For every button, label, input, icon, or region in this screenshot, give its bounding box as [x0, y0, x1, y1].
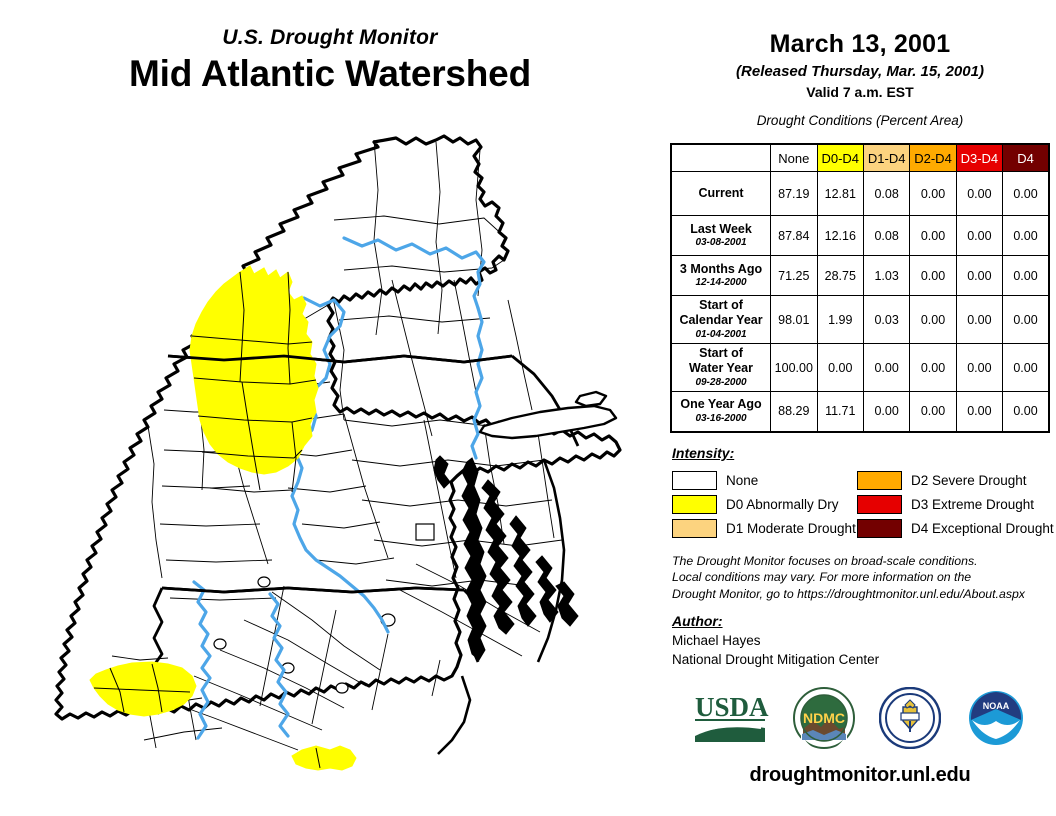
cell-value: 28.75: [817, 256, 863, 296]
usdc-seal: [879, 687, 941, 754]
cell-value: 0.00: [1003, 392, 1049, 432]
col-header-d0: D0-D4: [817, 144, 863, 172]
cell-value: 12.81: [817, 172, 863, 216]
legend-label: D1 Moderate Drought: [726, 521, 856, 536]
table-row: Current 87.19 12.81 0.08 0.00 0.00 0.00: [671, 172, 1049, 216]
release-date: (Released Thursday, Mar. 15, 2001): [664, 63, 1056, 80]
svg-text:NDMC: NDMC: [803, 710, 845, 726]
logo-row: USDA NDMC: [664, 683, 1056, 758]
swatch-none: [672, 471, 717, 490]
row-label-start-calendar-year: Start ofCalendar Year 01-04-2001: [671, 296, 771, 344]
swatch-d4: [857, 519, 902, 538]
row-label-last-week: Last Week 03-08-2001: [671, 216, 771, 256]
ndmc-logo: NDMC: [793, 687, 855, 754]
noaa-logo: NOAA: [965, 687, 1027, 754]
cell-value: 0.00: [910, 216, 956, 256]
cell-value: 0.00: [1003, 216, 1049, 256]
cell-value: 0.00: [910, 344, 956, 392]
valid-time: Valid 7 a.m. EST: [664, 84, 1056, 100]
cell-value: 0.00: [956, 296, 1002, 344]
cell-value: 0.00: [1003, 344, 1049, 392]
cell-value: 0.00: [910, 296, 956, 344]
col-header-none: None: [771, 144, 818, 172]
intensity-legend: Intensity: None D2 Severe Drought D0 Abn…: [672, 445, 1048, 540]
intensity-title: Intensity:: [672, 445, 1048, 461]
cell-value: 1.03: [863, 256, 909, 296]
cell-value: 0.00: [910, 172, 956, 216]
usda-logo: USDA: [693, 690, 769, 751]
right-panel: March 13, 2001 (Released Thursday, Mar. …: [664, 0, 1056, 816]
cell-value: 0.00: [956, 392, 1002, 432]
page-title: U.S. Drought Monitor Mid Atlantic Waters…: [0, 26, 660, 95]
row-label-3-months-ago: 3 Months Ago 12-14-2000: [671, 256, 771, 296]
legend-label: None: [726, 473, 758, 488]
cell-value: 11.71: [817, 392, 863, 432]
cell-value: 12.16: [817, 216, 863, 256]
legend-label: D2 Severe Drought: [911, 473, 1027, 488]
author-name: Michael Hayes: [672, 633, 1050, 648]
long-island: [480, 392, 616, 438]
cell-value: 0.00: [863, 344, 909, 392]
disclaimer-line-2: Local conditions may vary. For more info…: [672, 569, 1050, 585]
cell-value: 0.00: [817, 344, 863, 392]
legend-item-d0: D0 Abnormally Dry: [672, 492, 857, 516]
drought-conditions-table: None D0-D4 D1-D4 D2-D4 D3-D4 D4 Current …: [670, 143, 1050, 433]
table-row: Start ofCalendar Year 01-04-2001 98.01 1…: [671, 296, 1049, 344]
table-row: Start ofWater Year 09-28-2000 100.00 0.0…: [671, 344, 1049, 392]
date-block: March 13, 2001 (Released Thursday, Mar. …: [664, 0, 1056, 100]
legend-item-d3: D3 Extreme Drought: [857, 492, 1048, 516]
table-caption: Drought Conditions (Percent Area): [664, 113, 1056, 128]
cell-value: 0.03: [863, 296, 909, 344]
legend-label: D3 Extreme Drought: [911, 497, 1034, 512]
cell-value: 1.99: [817, 296, 863, 344]
legend-grid: None D2 Severe Drought D0 Abnormally Dry…: [672, 468, 1048, 540]
table-header-row: None D0-D4 D1-D4 D2-D4 D3-D4 D4: [671, 144, 1049, 172]
swatch-d2: [857, 471, 902, 490]
site-url[interactable]: droughtmonitor.unl.edu: [664, 764, 1056, 787]
col-header-d3: D3-D4: [956, 144, 1002, 172]
cell-value: 0.00: [956, 172, 1002, 216]
disclaimer-line-3: Drought Monitor, go to https://droughtmo…: [672, 586, 1050, 602]
legend-item-d2: D2 Severe Drought: [857, 468, 1048, 492]
map-date: March 13, 2001: [664, 30, 1056, 59]
legend-item-d1: D1 Moderate Drought: [672, 516, 857, 540]
table-row: One Year Ago 03-16-2000 88.29 11.71 0.00…: [671, 392, 1049, 432]
author-org: National Drought Mitigation Center: [672, 652, 1050, 667]
svg-text:USDA: USDA: [695, 692, 769, 722]
cell-value: 0.00: [910, 256, 956, 296]
title-subtitle: U.S. Drought Monitor: [0, 26, 660, 49]
title-main: Mid Atlantic Watershed: [0, 53, 660, 94]
cell-value: 0.00: [956, 216, 1002, 256]
table-row: 3 Months Ago 12-14-2000 71.25 28.75 1.03…: [671, 256, 1049, 296]
swatch-d0: [672, 495, 717, 514]
row-label-one-year-ago: One Year Ago 03-16-2000: [671, 392, 771, 432]
cell-value: 88.29: [771, 392, 818, 432]
cell-value: 0.08: [863, 172, 909, 216]
cell-value: 0.08: [863, 216, 909, 256]
col-header-d4: D4: [1003, 144, 1049, 172]
swatch-d1: [672, 519, 717, 538]
cell-value: 0.00: [910, 392, 956, 432]
legend-item-d4: D4 Exceptional Drought: [857, 516, 1048, 540]
author-title: Author:: [672, 613, 1050, 629]
drought-monitor-page: U.S. Drought Monitor Mid Atlantic Waters…: [0, 0, 1056, 816]
author-block: Author: Michael Hayes National Drought M…: [672, 613, 1050, 667]
cell-value: 0.00: [863, 392, 909, 432]
d0-area-se-virginia: [292, 746, 356, 770]
cell-value: 0.00: [956, 256, 1002, 296]
row-label-current: Current: [671, 172, 771, 216]
cell-value: 0.00: [1003, 172, 1049, 216]
cell-value: 71.25: [771, 256, 818, 296]
disclaimer-text: The Drought Monitor focuses on broad-sca…: [672, 553, 1050, 602]
cell-value: 100.00: [771, 344, 818, 392]
cell-value: 87.19: [771, 172, 818, 216]
swatch-d3: [857, 495, 902, 514]
d0-area-western-pa: [190, 266, 318, 474]
cell-value: 0.00: [1003, 256, 1049, 296]
legend-label: D0 Abnormally Dry: [726, 497, 839, 512]
svg-text:NOAA: NOAA: [983, 701, 1010, 711]
row-label-start-water-year: Start ofWater Year 09-28-2000: [671, 344, 771, 392]
cell-value: 98.01: [771, 296, 818, 344]
drought-map[interactable]: [44, 120, 664, 810]
disclaimer-line-1: The Drought Monitor focuses on broad-sca…: [672, 553, 1050, 569]
col-header-d1: D1-D4: [863, 144, 909, 172]
cell-value: 87.84: [771, 216, 818, 256]
map-svg: [44, 120, 664, 810]
cell-value: 0.00: [1003, 296, 1049, 344]
table-body: Current 87.19 12.81 0.08 0.00 0.00 0.00 …: [671, 172, 1049, 432]
table-row: Last Week 03-08-2001 87.84 12.16 0.08 0.…: [671, 216, 1049, 256]
col-header-d2: D2-D4: [910, 144, 956, 172]
table-corner-cell: [671, 144, 771, 172]
cell-value: 0.00: [956, 344, 1002, 392]
legend-item-none: None: [672, 468, 857, 492]
legend-label: D4 Exceptional Drought: [911, 521, 1054, 536]
